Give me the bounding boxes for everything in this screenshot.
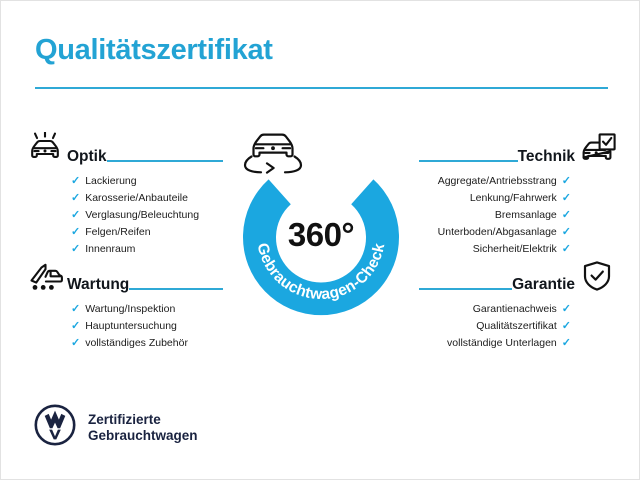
list-item: ✓ Wartung/Inspektion [71, 302, 175, 317]
section-wartung: Wartung ✓ Wartung/Inspektion ✓ Hauptunte… [23, 259, 223, 351]
list-item: Aggregate/Antriebsstrang ✓ [438, 174, 571, 189]
section-garantie-title: Garantie [512, 277, 575, 294]
section-technik-header: Technik [419, 131, 619, 165]
list-item-label: Qualitätszertifikat [476, 319, 557, 334]
vw-brand-line2: Gebrauchtwagen [88, 428, 198, 443]
list-item: vollständige Unterlagen ✓ [447, 336, 571, 351]
vw-brand-text: ZertifizierteGebrauchtwagen [88, 412, 198, 444]
vw-roundel-logo [34, 404, 76, 451]
check-icon: ✓ [71, 244, 80, 255]
list-item: Garantienachweis ✓ [473, 302, 571, 317]
car-checkbox-icon [575, 131, 619, 165]
shield-check-icon [575, 259, 619, 293]
section-garantie-items: Garantienachweis ✓ Qualitätszertifikat ✓… [419, 302, 619, 351]
list-item-label: Felgen/Reifen [85, 225, 150, 240]
list-item-label: Verglasung/Beleuchtung [85, 208, 199, 223]
360-gebrauchtwagen-check-badge: Gebrauchtwagen-Check 360° [235, 149, 407, 321]
section-garantie: Garantie Garantienachweis ✓ Qualitätszer… [419, 259, 619, 351]
list-item-label: Lackierung [85, 174, 136, 189]
check-icon: ✓ [562, 210, 571, 221]
section-garantie-rule [419, 288, 512, 290]
check-icon: ✓ [71, 338, 80, 349]
list-item: ✓ Karosserie/Anbauteile [71, 191, 188, 206]
section-garantie-header: Garantie [419, 259, 619, 293]
list-item: Unterboden/Abgasanlage ✓ [438, 225, 571, 240]
check-icon: ✓ [562, 338, 571, 349]
check-icon: ✓ [562, 176, 571, 187]
list-item: ✓ Hauptuntersuchung [71, 319, 177, 334]
list-item: ✓ Innenraum [71, 242, 135, 257]
list-item-label: Hauptuntersuchung [85, 319, 177, 334]
wrench-car-service-icon [23, 259, 67, 293]
section-technik-title: Technik [518, 149, 575, 166]
check-icon: ✓ [71, 193, 80, 204]
list-item-label: Garantienachweis [473, 302, 557, 317]
section-optik-items: ✓ Lackierung ✓ Karosserie/Anbauteile ✓ V… [23, 174, 223, 257]
list-item-label: Unterboden/Abgasanlage [438, 225, 557, 240]
section-optik-rule [107, 160, 223, 162]
list-item: ✓ vollständiges Zubehör [71, 336, 188, 351]
list-item: Lenkung/Fahrwerk ✓ [470, 191, 571, 206]
section-wartung-title: Wartung [67, 277, 129, 294]
check-icon: ✓ [562, 227, 571, 238]
list-item-label: Innenraum [85, 242, 135, 257]
footer-brand: ZertifizierteGebrauchtwagen [34, 404, 198, 451]
list-item-label: Wartung/Inspektion [85, 302, 175, 317]
check-icon: ✓ [71, 176, 80, 187]
list-item: ✓ Felgen/Reifen [71, 225, 151, 240]
qualitaetszertifikat-card: Qualitätszertifikat Opt [0, 0, 640, 480]
car-shine-icon [23, 131, 67, 165]
list-item: Qualitätszertifikat ✓ [476, 319, 571, 334]
check-icon: ✓ [71, 321, 80, 332]
section-wartung-header: Wartung [23, 259, 223, 293]
section-wartung-rule [129, 288, 223, 290]
check-icon: ✓ [562, 244, 571, 255]
check-icon: ✓ [71, 304, 80, 315]
list-item-label: Lenkung/Fahrwerk [470, 191, 557, 206]
car-rotate-360-icon [237, 118, 309, 174]
list-item-label: vollständige Unterlagen [447, 336, 557, 351]
section-optik: Optik ✓ Lackierung ✓ Karosserie/Anbautei… [23, 131, 223, 257]
check-icon: ✓ [71, 227, 80, 238]
section-optik-title: Optik [67, 149, 107, 166]
list-item-label: Bremsanlage [495, 208, 557, 223]
list-item-label: Aggregate/Antriebsstrang [438, 174, 557, 189]
title-divider [35, 87, 608, 89]
page-title: Qualitätszertifikat [35, 34, 273, 67]
list-item-label: vollständiges Zubehör [85, 336, 188, 351]
section-wartung-items: ✓ Wartung/Inspektion ✓ Hauptuntersuchung… [23, 302, 223, 351]
check-icon: ✓ [562, 193, 571, 204]
list-item: ✓ Verglasung/Beleuchtung [71, 208, 199, 223]
section-technik-rule [419, 160, 518, 162]
check-icon: ✓ [562, 304, 571, 315]
section-technik: Technik Aggregate/A [419, 131, 619, 257]
list-item-label: Sicherheit/Elektrik [473, 242, 557, 257]
list-item: Bremsanlage ✓ [495, 208, 571, 223]
check-icon: ✓ [71, 210, 80, 221]
list-item: ✓ Lackierung [71, 174, 137, 189]
vw-brand-line1: Zertifizierte [88, 412, 161, 427]
section-optik-header: Optik [23, 131, 223, 165]
list-item-label: Karosserie/Anbauteile [85, 191, 188, 206]
check-icon: ✓ [562, 321, 571, 332]
section-technik-items: Aggregate/Antriebsstrang ✓ Lenkung/Fahrw… [419, 174, 619, 257]
list-item: Sicherheit/Elektrik ✓ [473, 242, 571, 257]
